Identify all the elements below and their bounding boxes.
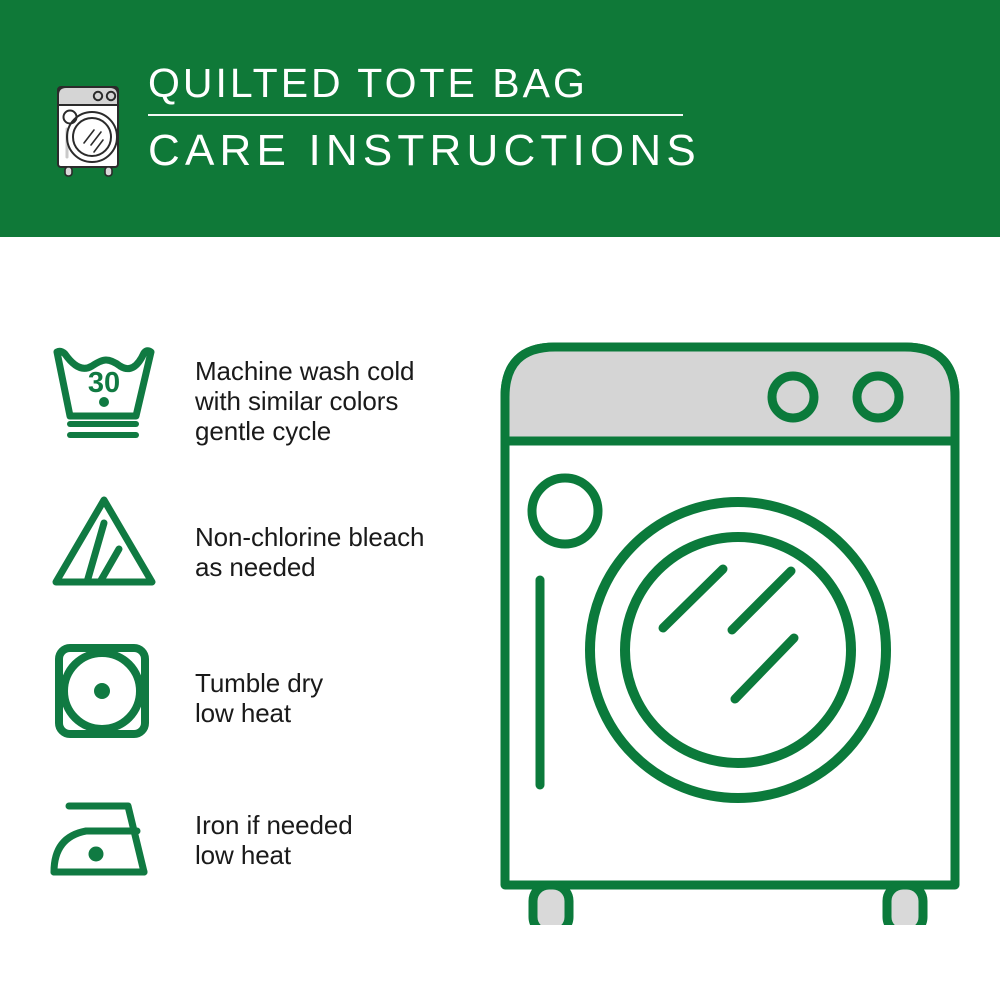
non-chlorine-bleach-triangle-icon	[48, 490, 163, 590]
page-title-care: CARE INSTRUCTIONS	[148, 116, 701, 173]
care-text-line: Machine wash cold	[195, 356, 414, 386]
care-row-iron: Iron if needed low heat	[48, 790, 478, 940]
header-title-group: QUILTED TOTE BAG CARE INSTRUCTIONS	[148, 63, 701, 173]
page-title-product: QUILTED TOTE BAG	[148, 63, 701, 114]
leg-right	[887, 885, 923, 925]
care-row-machine-wash: 30 Machine wash cold with similar colors…	[48, 340, 478, 490]
iron-low-heat-icon	[48, 790, 163, 890]
tumble-dry-low-heat-icon	[48, 640, 163, 740]
care-text-line: Non-chlorine bleach	[195, 522, 424, 552]
washing-machine-icon	[44, 65, 140, 177]
care-text-tumble-dry: Tumble dry low heat	[195, 640, 323, 728]
leg-left	[533, 885, 569, 925]
care-text-line: low heat	[195, 840, 353, 870]
care-text-line: low heat	[195, 698, 323, 728]
wash-tub-30-icon: 30	[48, 340, 163, 440]
care-text-bleach: Non-chlorine bleach as needed	[195, 490, 424, 582]
care-instructions-list: 30 Machine wash cold with similar colors…	[48, 340, 478, 940]
front-load-washing-machine-illustration	[495, 335, 965, 925]
care-row-tumble-dry: Tumble dry low heat	[48, 640, 478, 790]
care-text-line: Tumble dry	[195, 668, 323, 698]
care-row-bleach: Non-chlorine bleach as needed	[48, 490, 478, 640]
care-text-line: gentle cycle	[195, 416, 414, 446]
control-panel	[509, 351, 951, 441]
care-text-iron: Iron if needed low heat	[195, 790, 353, 870]
wash-temperature-label: 30	[88, 367, 120, 399]
title-divider	[148, 114, 683, 116]
care-text-line: Iron if needed	[195, 810, 353, 840]
care-text-line: as needed	[195, 552, 424, 582]
care-text-machine-wash: Machine wash cold with similar colors ge…	[195, 340, 414, 446]
header-banner: QUILTED TOTE BAG CARE INSTRUCTIONS	[0, 0, 1000, 237]
care-text-line: with similar colors	[195, 386, 414, 416]
header-content: QUILTED TOTE BAG CARE INSTRUCTIONS	[44, 63, 701, 177]
